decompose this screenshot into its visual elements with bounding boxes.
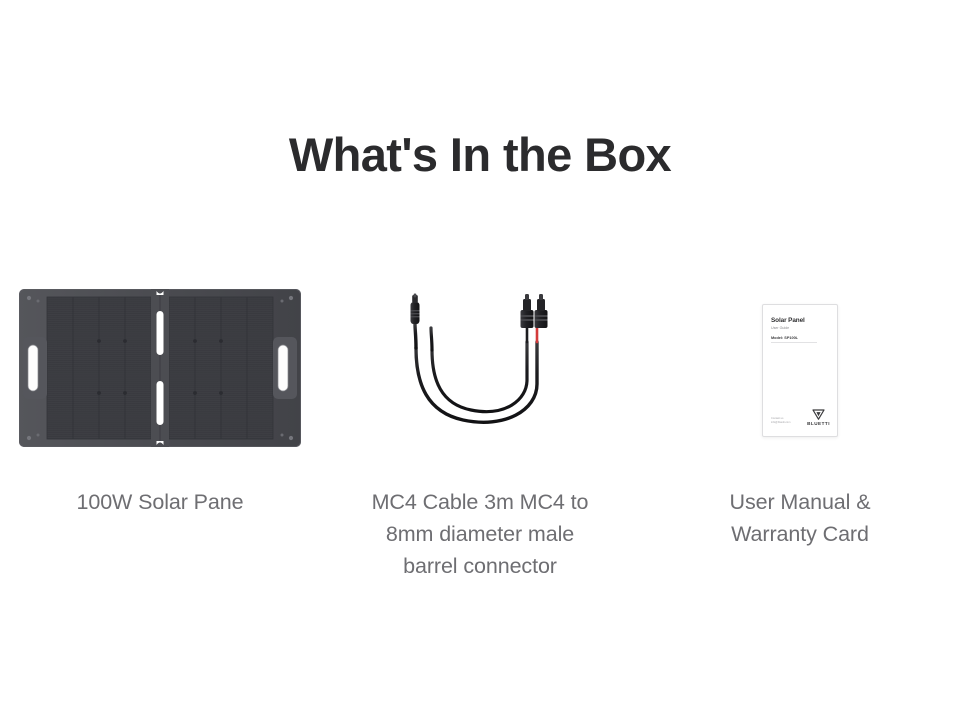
caption-line: Warranty Card <box>730 518 871 550</box>
solar-panel-right-handle <box>273 337 297 399</box>
item-mc4-cable: MC4 Cable 3m MC4 to 8mm diameter male ba… <box>320 280 640 582</box>
manual-rule <box>771 342 817 343</box>
item-caption-user-manual: User Manual & Warranty Card <box>730 486 871 550</box>
item-caption-solar-panel: 100W Solar Pane <box>76 486 243 518</box>
manual-brand-lockup: BLUETTI <box>807 409 830 426</box>
solar-panel-illustration <box>17 285 303 456</box>
mc4-cable-icon <box>385 288 575 448</box>
solar-panel-left-handle <box>23 337 47 399</box>
user-manual-illustration: Solar Panel User Guide Model: SP100L Con… <box>762 304 838 437</box>
caption-line: MC4 Cable 3m MC4 to <box>372 486 589 518</box>
manual-title: Solar Panel <box>771 317 805 324</box>
mc4-cable-figure <box>320 280 640 460</box>
caption-line: User Manual & <box>730 486 871 518</box>
item-caption-mc4-cable: MC4 Cable 3m MC4 to 8mm diameter male ba… <box>372 486 589 582</box>
item-user-manual: Solar Panel User Guide Model: SP100L Con… <box>640 280 960 550</box>
mc4-cable-illustration <box>385 288 575 453</box>
manual-subtitle: User Guide <box>771 326 789 330</box>
mc4-connector-male <box>521 294 534 328</box>
solar-panel-left-wing <box>47 297 151 439</box>
manual-model: Model: SP100L <box>771 336 798 340</box>
item-solar-panel: 100W Solar Pane <box>0 280 320 518</box>
page-title: What's In the Box <box>0 127 960 182</box>
user-manual-figure: Solar Panel User Guide Model: SP100L Con… <box>640 280 960 460</box>
manual-contact-text: Contact us info@bluetti.com <box>771 417 801 424</box>
caption-line: 8mm diameter male <box>372 518 589 550</box>
solar-panel-right-wing <box>169 297 273 439</box>
mc4-connector-pair-icon <box>521 294 548 328</box>
included-items-row: 100W Solar Pane <box>0 280 960 582</box>
manual-cover-card: Solar Panel User Guide Model: SP100L Con… <box>762 304 838 437</box>
manual-brand-name: BLUETTI <box>807 421 830 426</box>
barrel-connector-icon <box>411 293 420 324</box>
solar-panel-figure <box>0 280 320 460</box>
caption-line: 100W Solar Pane <box>76 486 243 518</box>
bluetti-triangle-icon <box>812 409 825 420</box>
caption-line: barrel connector <box>372 550 589 582</box>
whats-in-the-box-page: What's In the Box <box>0 0 960 708</box>
mc4-connector-female <box>535 294 548 328</box>
solar-panel-icon <box>17 285 303 451</box>
solar-panel-fold-hinge <box>151 289 169 447</box>
